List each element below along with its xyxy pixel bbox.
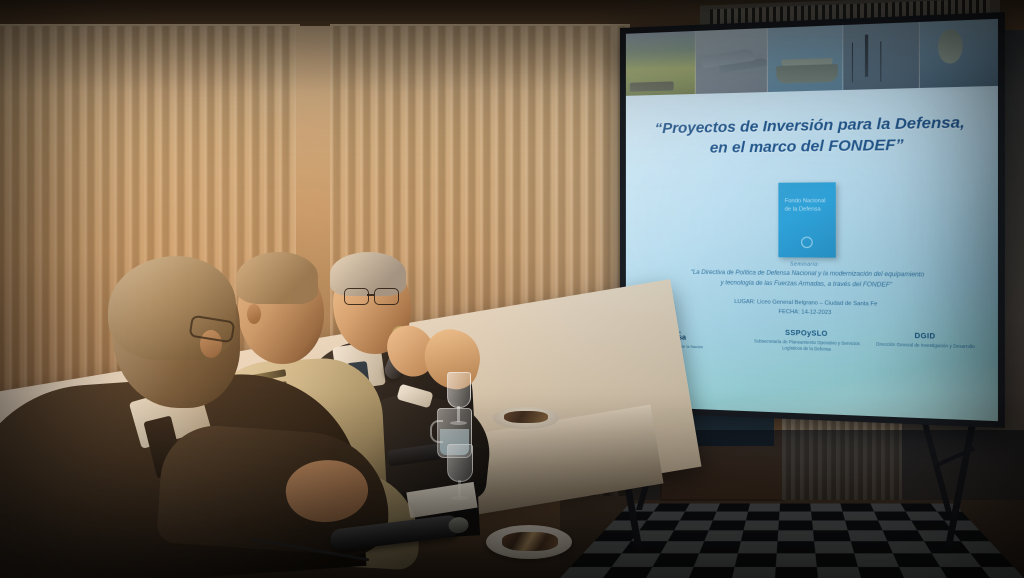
- venue-and-date: LUGAR: Liceo General Belgrano – Ciudad d…: [652, 297, 969, 322]
- org-right-title: DGID: [865, 332, 987, 342]
- food-plate-back: [493, 407, 559, 429]
- armored-vehicles-field-photo: [626, 31, 696, 96]
- org-right-subtitle: Dirección General de Investigación y Des…: [865, 341, 987, 351]
- radar-antenna-photo: [843, 22, 920, 90]
- screenshot-root: “Proyectos de Inversión para la Defensa,…: [0, 0, 1024, 578]
- wine-glass-front: [447, 444, 473, 482]
- speaker-eyeglasses: [344, 288, 402, 303]
- org-left-subtitle: Subsecretaría de Planeamiento Operativo …: [749, 338, 865, 354]
- booklet-cover-text: Fondo Nacional de la Defensa: [785, 197, 831, 214]
- food-plate-front-contents: [502, 532, 558, 551]
- wine-glass-back: [447, 372, 471, 408]
- seminar-description: “La Directiva de Política de Defensa Nac…: [652, 268, 969, 292]
- booklet-emblem-icon: [801, 237, 813, 248]
- org-left-block: SSPOySLO Subsecretaría de Planeamiento O…: [749, 329, 865, 354]
- officer-ear: [247, 304, 261, 324]
- fighter-jets-photo: [696, 28, 768, 94]
- org-left-title: SSPOySLO: [749, 329, 865, 339]
- food-plate-back-contents: [504, 411, 548, 423]
- food-plate-front: [486, 525, 572, 559]
- satellite-dish-photo: [920, 19, 998, 88]
- org-right-block: DGID Dirección General de Investigación …: [865, 332, 987, 351]
- naval-ship-photo: [768, 25, 843, 92]
- slide-photo-strip: [626, 19, 998, 96]
- slide-footer-organizations: Ministerio de Defensa Presidencia de la …: [636, 326, 987, 359]
- slide-title: “Proyectos de Inversión para la Defensa,…: [644, 112, 978, 159]
- officer-hair: [236, 252, 318, 304]
- fondef-booklet-cover: Fondo Nacional de la Defensa: [778, 182, 835, 257]
